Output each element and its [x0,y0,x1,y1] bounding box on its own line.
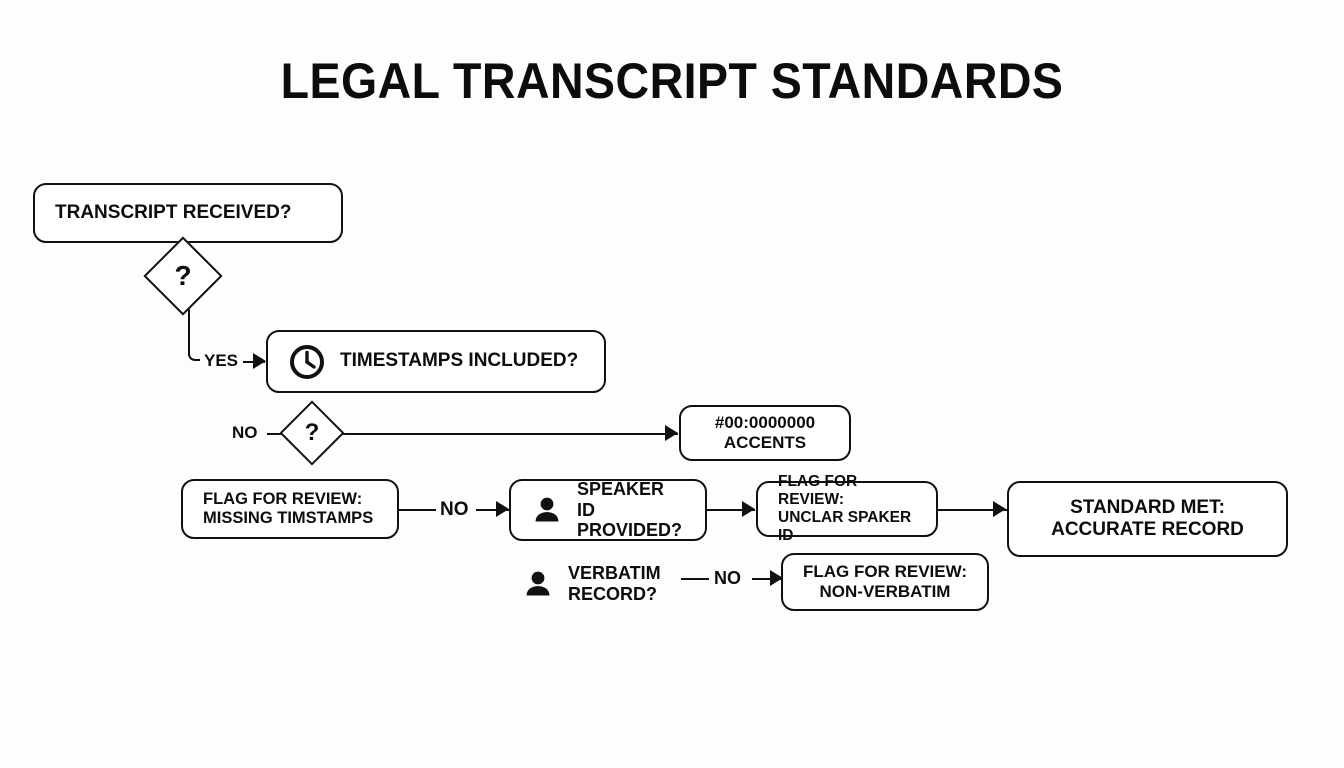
connector-flag-missing-to-no-label [399,509,436,511]
node-flag-non-verbatim-label: FLAG FOR REVIEW: NON-VERBATIM [803,562,967,601]
page-title: LEGAL TRANSCRIPT STANDARDS [47,52,1297,110]
edge-label-no-non-verbatim: NO [710,568,745,589]
node-accents[interactable]: #00:0000000 ACCENTS [679,405,851,461]
arrowhead-decision-two-to-accents [665,425,678,441]
node-transcript-received-label: TRANSCRIPT RECEIVED? [55,202,291,224]
clock-icon [288,343,326,381]
node-timestamps-included-label: TIMESTAMPS INCLUDED? [340,350,578,372]
node-transcript-received[interactable]: TRANSCRIPT RECEIVED? [33,183,343,243]
arrowhead-speaker-id-to-flag-unclear [742,501,755,517]
arrowhead-yes-to-timestamps [253,353,266,369]
arrowhead-flag-unclear-to-standard-met [993,501,1006,517]
node-timestamps-included[interactable]: TIMESTAMPS INCLUDED? [266,330,606,393]
node-flag-missing-timestamps[interactable]: FLAG FOR REVIEW: MISSING TIMSTAMPS [181,479,399,539]
decision-diamond-two[interactable] [279,400,344,465]
person-icon [522,568,554,600]
arrowhead-no-to-speaker-id [496,501,509,517]
node-standard-met-label: STANDARD MET: ACCURATE RECORD [1051,497,1244,541]
node-standard-met[interactable]: STANDARD MET: ACCURATE RECORD [1007,481,1288,557]
node-accents-label: #00:0000000 ACCENTS [715,413,815,452]
decision-diamond-one[interactable] [143,236,222,315]
edge-label-yes: YES [200,351,242,371]
node-speaker-id-provided[interactable]: SPEAKER ID PROVIDED? [509,479,707,541]
node-flag-non-verbatim[interactable]: FLAG FOR REVIEW: NON-VERBATIM [781,553,989,611]
flowchart-canvas: LEGAL TRANSCRIPT STANDARDS TRANSCRIPT RE… [0,0,1344,768]
connector-decision-two-to-accents [335,433,678,435]
node-flag-unclear-speaker-label: FLAG FOR REVIEW: UNCLAR SPAKER ID [778,473,918,545]
edge-label-no-speaker-id: NO [436,499,473,521]
node-verbatim-record-label: VERBATIM RECORD? [568,563,661,605]
edge-label-no-accents: NO [228,423,262,443]
node-verbatim-record[interactable]: VERBATIM RECORD? [522,556,712,612]
node-flag-unclear-speaker[interactable]: FLAG FOR REVIEW: UNCLAR SPAKER ID [756,481,938,537]
node-flag-missing-timestamps-label: FLAG FOR REVIEW: MISSING TIMSTAMPS [203,490,373,528]
node-speaker-id-provided-label: SPEAKER ID PROVIDED? [577,479,687,542]
person-icon [531,494,563,526]
